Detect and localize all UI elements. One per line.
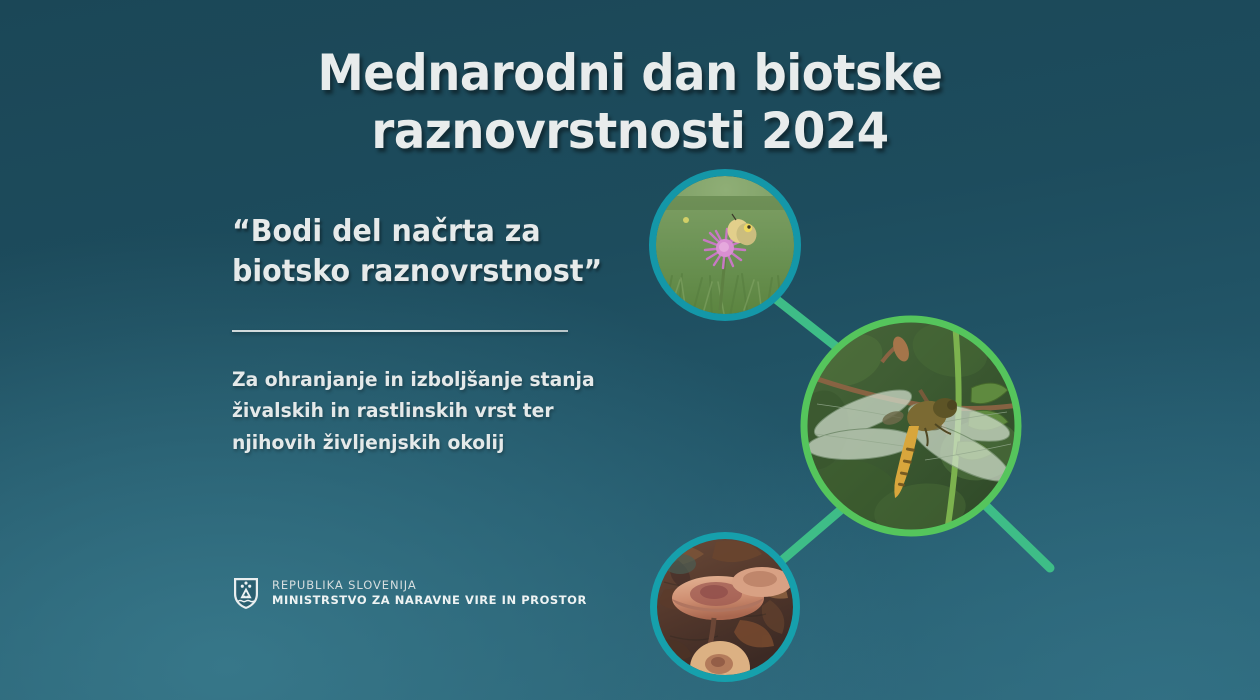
photo-butterfly [653, 173, 798, 319]
title-text: Mednarodni dan biotske raznovrstnosti 20… [81, 44, 1178, 160]
divider-rule [232, 330, 568, 332]
campaign-slogan: “Bodi del načrta za biotsko raznovrstnos… [232, 212, 631, 292]
page-title: Mednarodni dan biotske raznovrstnosti 20… [0, 44, 1260, 160]
slogan-line-1: “Bodi del načrta za [232, 214, 541, 249]
photo-cluster [620, 150, 1060, 690]
logo-ministry: MINISTRSTVO ZA NARAVNE VIRE IN PROSTOR [272, 593, 587, 608]
slovenia-coat-of-arms-icon [232, 576, 260, 610]
logo-organisation: REPUBLIKA SLOVENIJA [272, 578, 587, 593]
government-logo: REPUBLIKA SLOVENIJA MINISTRSTVO ZA NARAV… [232, 576, 587, 610]
description-line-2: živalskih in rastlinskih vrst ter [232, 399, 554, 422]
description-line-3: njihovih življenjskih okolij [232, 431, 504, 454]
description-text: Za ohranjanje in izboljšanje stanja živa… [232, 364, 635, 459]
left-content-column: “Bodi del načrta za biotsko raznovrstnos… [232, 212, 652, 459]
poster-canvas: Mednarodni dan biotske raznovrstnosti 20… [0, 0, 1260, 700]
logo-text-block: REPUBLIKA SLOVENIJA MINISTRSTVO ZA NARAV… [272, 578, 587, 607]
description-line-1: Za ohranjanje in izboljšanje stanja [232, 368, 595, 391]
photo-mushrooms [652, 536, 797, 691]
title-line-1: Mednarodni dan biotske [317, 44, 942, 102]
slogan-line-2: biotsko raznovrstnost” [232, 254, 602, 289]
